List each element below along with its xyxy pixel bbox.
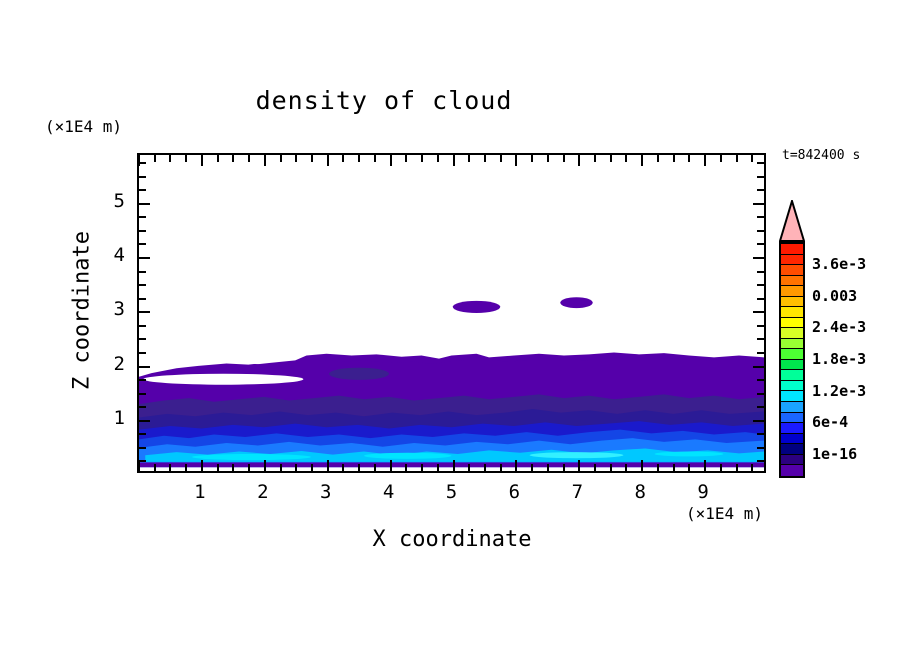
x-axis-tick — [673, 155, 675, 162]
x-axis-tick — [421, 155, 423, 162]
y-axis-tick-label: 2 — [85, 353, 125, 375]
x-axis-tick — [311, 464, 313, 471]
colorbar-band — [781, 423, 803, 434]
x-axis-tick — [138, 155, 140, 166]
x-axis-tick — [185, 464, 187, 471]
x-axis-tick — [374, 155, 376, 162]
colorbar-band — [781, 360, 803, 371]
y-axis-tick — [139, 311, 150, 313]
y-axis-tick — [139, 406, 146, 408]
y-axis-tick — [757, 230, 764, 232]
colorbar-band — [781, 265, 803, 276]
x-axis-tick — [688, 155, 690, 162]
x-axis-tick — [751, 155, 753, 162]
y-axis-tick — [139, 420, 150, 422]
y-axis-tick — [753, 257, 764, 259]
x-axis-tick — [720, 155, 722, 162]
x-axis-tick — [248, 464, 250, 471]
y-axis-tick — [757, 176, 764, 178]
contour-field — [139, 155, 764, 471]
x-axis-tick — [327, 155, 329, 166]
x-axis-tick-label: 9 — [683, 481, 723, 503]
x-axis-tick — [453, 460, 455, 471]
y-axis-tick — [757, 393, 764, 395]
y-axis-tick — [757, 284, 764, 286]
x-axis-tick — [201, 460, 203, 471]
x-axis-tick — [421, 464, 423, 471]
colorbar-label: 3.6e-3 — [812, 255, 866, 273]
x-axis-tick — [468, 155, 470, 162]
x-axis-tick — [641, 155, 643, 166]
x-axis-tick — [547, 464, 549, 471]
x-axis-tick — [280, 155, 282, 162]
x-axis-tick — [515, 155, 517, 166]
x-axis-title: X coordinate — [137, 527, 767, 552]
colorbar-band — [781, 318, 803, 329]
x-axis-tick — [437, 155, 439, 162]
y-axis-tick — [139, 298, 146, 300]
y-axis-tick — [139, 189, 146, 191]
y-axis-tick-label: 1 — [85, 407, 125, 429]
x-axis-tick — [531, 155, 533, 162]
y-axis-tick — [757, 189, 764, 191]
x-axis-tick — [594, 464, 596, 471]
figure-canvas: density of cloud (×1E4 m) (×1E4 m) t=842… — [0, 0, 904, 654]
y-axis-tick — [139, 366, 150, 368]
y-axis-tick-label: 4 — [85, 244, 125, 266]
x-axis-tick — [578, 460, 580, 471]
x-axis-tick — [468, 464, 470, 471]
x-axis-tick — [232, 155, 234, 162]
colorbar-band — [781, 307, 803, 318]
y-axis-tick — [139, 257, 150, 259]
colorbar-band — [781, 381, 803, 392]
x-axis-tick — [563, 464, 565, 471]
y-axis-tick — [139, 352, 146, 354]
colorbar-label: 1.2e-3 — [812, 382, 866, 400]
x-axis-tick — [547, 155, 549, 162]
colorbar — [779, 242, 805, 478]
x-axis-tick — [201, 155, 203, 166]
x-axis-tick — [327, 460, 329, 471]
x-axis-tick — [563, 155, 565, 162]
x-axis-tick — [358, 464, 360, 471]
x-axis-tick — [374, 464, 376, 471]
x-axis-tick — [217, 464, 219, 471]
y-axis-tick — [757, 325, 764, 327]
y-axis-tick — [757, 433, 764, 435]
y-axis-tick — [753, 420, 764, 422]
y-axis-tick — [139, 379, 146, 381]
plot-area — [137, 153, 766, 473]
y-axis-unit-label: (×1E4 m) — [45, 117, 122, 136]
x-axis-tick — [453, 155, 455, 166]
y-axis-tick — [757, 352, 764, 354]
x-axis-tick — [390, 155, 392, 166]
x-axis-tick — [500, 464, 502, 471]
x-axis-tick — [610, 464, 612, 471]
x-axis-tick — [657, 464, 659, 471]
x-axis-tick — [405, 464, 407, 471]
y-axis-tick — [139, 271, 146, 273]
y-axis-tick — [757, 298, 764, 300]
x-axis-tick — [751, 464, 753, 471]
y-axis-tick — [757, 271, 764, 273]
x-axis-tick — [248, 155, 250, 162]
colorbar-label: 6e-4 — [812, 413, 848, 431]
colorbar-band — [781, 328, 803, 339]
x-axis-tick — [311, 155, 313, 162]
colorbar-band — [781, 244, 803, 255]
y-axis-tick-label: 5 — [85, 190, 125, 212]
y-axis-tick — [139, 460, 146, 462]
colorbar-label: 1e-16 — [812, 445, 857, 463]
y-axis-tick — [139, 325, 146, 327]
y-axis-tick — [139, 230, 146, 232]
colorbar-band — [781, 444, 803, 455]
x-axis-tick — [673, 464, 675, 471]
x-axis-tick — [688, 464, 690, 471]
y-axis-tick — [753, 366, 764, 368]
x-axis-tick-label: 1 — [180, 481, 220, 503]
y-axis-tick — [757, 162, 764, 164]
x-axis-tick-label: 7 — [557, 481, 597, 503]
colorbar-label: 0.003 — [812, 287, 857, 305]
colorbar-band — [781, 255, 803, 266]
x-axis-tick — [342, 464, 344, 471]
y-axis-tick — [757, 379, 764, 381]
x-axis-tick-label: 4 — [369, 481, 409, 503]
x-axis-tick — [484, 464, 486, 471]
colorbar-band — [781, 465, 803, 476]
x-axis-tick — [154, 464, 156, 471]
colorbar-band — [781, 370, 803, 381]
y-axis-tick — [757, 216, 764, 218]
x-axis-tick-label: 3 — [306, 481, 346, 503]
x-axis-tick — [154, 155, 156, 162]
colorbar-band — [781, 413, 803, 424]
x-axis-tick-label: 5 — [432, 481, 472, 503]
y-axis-tick — [139, 284, 146, 286]
y-axis-tick — [139, 162, 146, 164]
y-axis-tick — [139, 393, 146, 395]
x-axis-tick — [264, 155, 266, 166]
x-axis-tick — [531, 464, 533, 471]
x-axis-tick — [657, 155, 659, 162]
x-axis-unit-label: (×1E4 m) — [686, 504, 763, 523]
x-axis-tick-label: 2 — [243, 481, 283, 503]
x-axis-tick — [578, 155, 580, 166]
y-axis-tick — [757, 338, 764, 340]
x-axis-tick — [625, 155, 627, 162]
x-axis-tick — [736, 464, 738, 471]
x-axis-tick — [264, 460, 266, 471]
y-axis-tick-label: 3 — [85, 298, 125, 320]
x-axis-tick — [217, 155, 219, 162]
clear-sky-region — [139, 155, 764, 377]
colorbar-band — [781, 339, 803, 350]
y-axis-tick — [757, 460, 764, 462]
x-axis-tick-label: 6 — [494, 481, 534, 503]
x-axis-tick — [390, 460, 392, 471]
x-axis-tick — [169, 155, 171, 162]
x-axis-tick — [515, 460, 517, 471]
x-axis-tick — [704, 460, 706, 471]
colorbar-band — [781, 297, 803, 308]
x-axis-tick — [437, 464, 439, 471]
y-axis-tick — [139, 447, 146, 449]
y-axis-tick — [139, 338, 146, 340]
x-axis-tick — [358, 155, 360, 162]
y-axis-tick — [757, 406, 764, 408]
colorbar-label: 2.4e-3 — [812, 318, 866, 336]
y-axis-tick — [753, 311, 764, 313]
colorbar-label: 1.8e-3 — [812, 350, 866, 368]
y-axis-tick — [139, 176, 146, 178]
colorbar-arrow-cap — [779, 200, 805, 242]
y-axis-tick — [757, 447, 764, 449]
colorbar-band — [781, 286, 803, 297]
colorbar-band — [781, 402, 803, 413]
x-axis-tick — [610, 155, 612, 162]
chart-title: density of cloud — [0, 86, 768, 115]
x-axis-tick — [280, 464, 282, 471]
x-axis-tick — [704, 155, 706, 166]
cloud-free-slot — [143, 374, 303, 385]
x-axis-tick — [720, 464, 722, 471]
colorbar-band — [781, 455, 803, 466]
y-axis-tick — [753, 203, 764, 205]
y-axis-tick — [139, 203, 150, 205]
x-axis-tick — [185, 155, 187, 162]
x-axis-tick — [641, 460, 643, 471]
x-axis-tick — [295, 464, 297, 471]
colorbar-band — [781, 391, 803, 402]
x-axis-tick — [736, 155, 738, 162]
x-axis-tick — [169, 464, 171, 471]
y-axis-tick — [139, 216, 146, 218]
colorbar-band — [781, 434, 803, 445]
x-axis-tick — [484, 155, 486, 162]
y-axis-tick — [139, 433, 146, 435]
x-axis-tick — [405, 155, 407, 162]
y-axis-tick — [139, 243, 146, 245]
x-axis-tick — [500, 155, 502, 162]
x-axis-tick — [594, 155, 596, 162]
x-axis-tick — [625, 464, 627, 471]
x-axis-tick — [342, 155, 344, 162]
colorbar-band — [781, 349, 803, 360]
x-axis-tick-label: 8 — [620, 481, 660, 503]
colorbar-band — [781, 276, 803, 287]
x-axis-tick — [295, 155, 297, 162]
x-axis-tick — [232, 464, 234, 471]
y-axis-tick — [757, 243, 764, 245]
time-annotation: t=842400 s — [782, 148, 860, 163]
